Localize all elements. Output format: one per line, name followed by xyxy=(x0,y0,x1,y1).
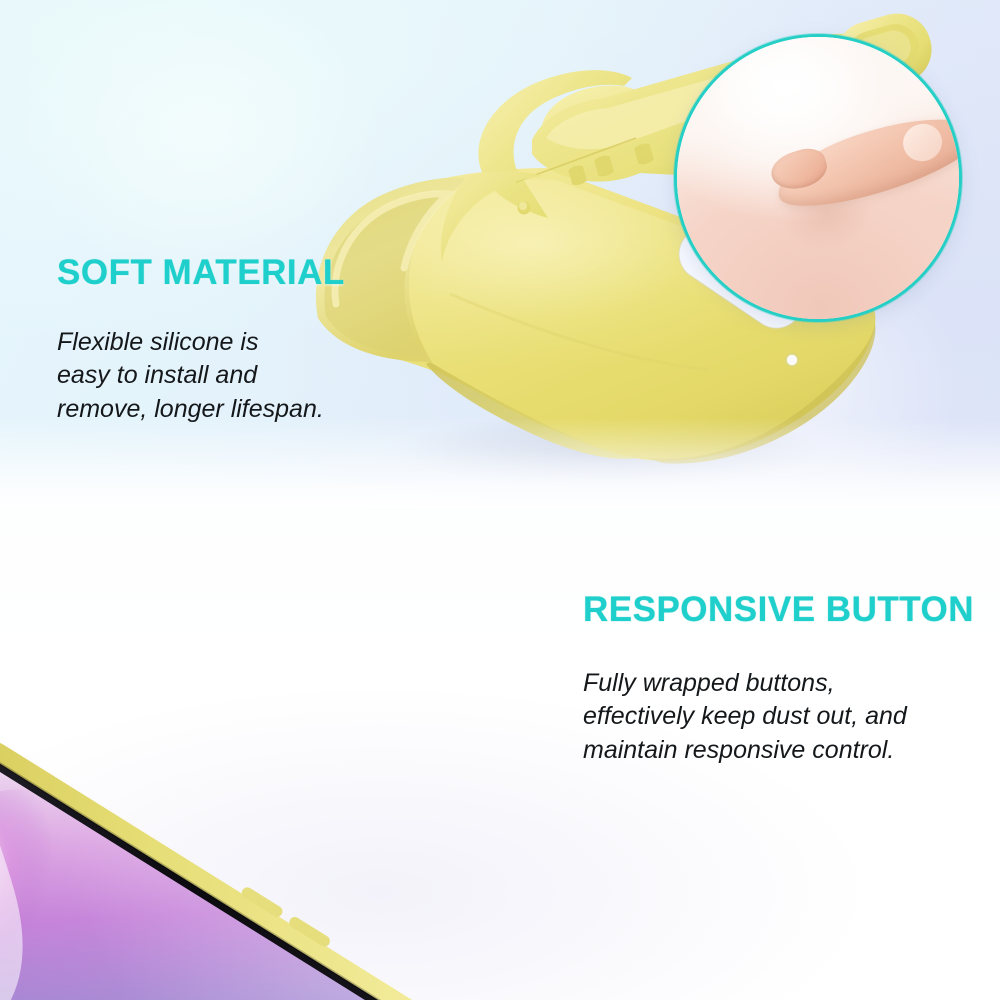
body-line: easy to install and xyxy=(57,359,345,392)
text-block-responsive-button: RESPONSIVE BUTTON Fully wrapped buttons,… xyxy=(583,592,974,767)
panel-bottom-fade xyxy=(0,418,1000,508)
phone-body xyxy=(0,707,473,1000)
body-line: effectively keep dust out, and xyxy=(583,700,974,733)
body-line: maintain responsive control. xyxy=(583,734,974,767)
side-button-dot-hi xyxy=(519,202,527,210)
inset-finger-press-circle xyxy=(674,34,962,322)
panel-soft-material: SOFT MATERIAL Flexible silicone is easy … xyxy=(0,0,1000,508)
body-responsive-button: Fully wrapped buttons, effectively keep … xyxy=(583,667,974,767)
body-soft-material: Flexible silicone is easy to install and… xyxy=(57,326,345,426)
screen xyxy=(0,722,442,1000)
heading-responsive-button: RESPONSIVE BUTTON xyxy=(583,592,974,627)
text-block-soft-material: SOFT MATERIAL Flexible silicone is easy … xyxy=(57,255,345,426)
infographic-canvas: SOFT MATERIAL Flexible silicone is easy … xyxy=(0,0,1000,1000)
heading-soft-material: SOFT MATERIAL xyxy=(57,255,345,290)
flash-cutout xyxy=(785,353,800,368)
body-line: Fully wrapped buttons, xyxy=(583,667,974,700)
panel-responsive-button: RESPONSIVE BUTTON Fully wrapped buttons,… xyxy=(0,508,1000,1000)
body-line: Flexible silicone is xyxy=(57,326,345,359)
